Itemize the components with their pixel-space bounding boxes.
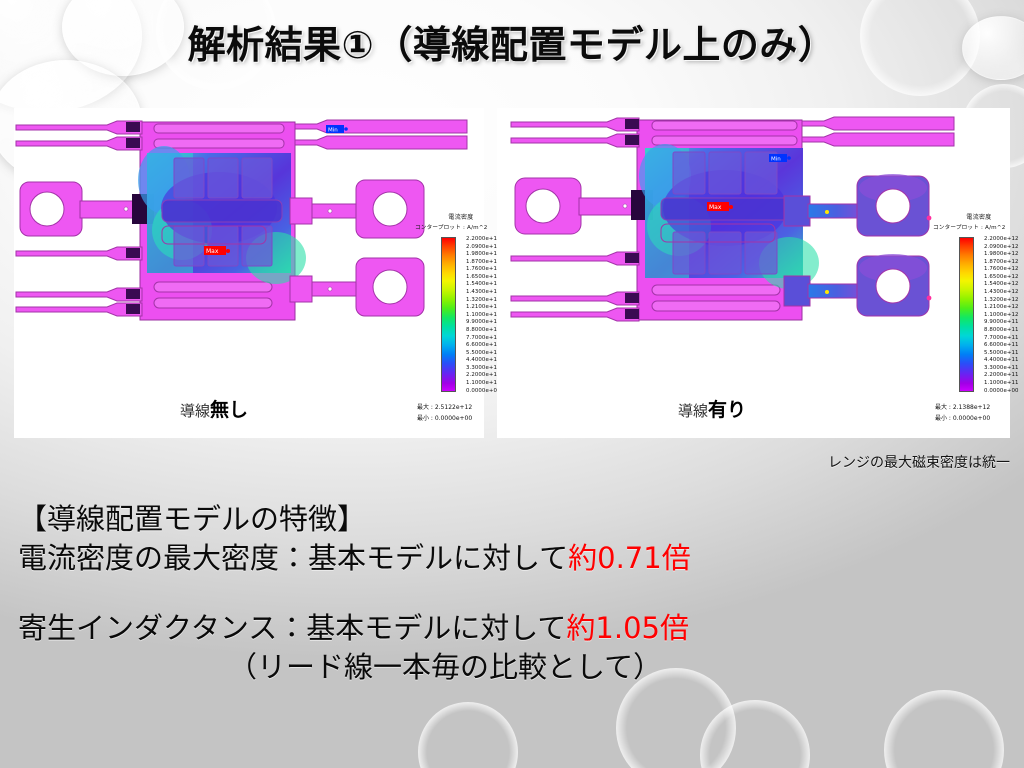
figure-panel-with-wire: Max Min 電流密度 コンタープロット : A/m^2 2.2000e+12… [497, 108, 1010, 438]
range-note: レンジの最大磁束密度は統一 [828, 452, 1010, 472]
caption-prefix: 導線 [678, 402, 708, 420]
colorbar-tick-values: 2.2000e+12 2.0900e+12 1.9800e+12 1.8700e… [466, 237, 501, 394]
colorbar-tick: 9.9000e+11 [466, 320, 501, 325]
colorbar-tick: 2.2000e+12 [984, 237, 1019, 242]
figure-caption-no-wire: 導線無し [14, 395, 414, 422]
body-spacer [18, 579, 1008, 609]
colorbar-tick: 1.8700e+12 [984, 260, 1019, 265]
colorbar-tick: 6.6000e+11 [984, 343, 1019, 348]
colorbar-tick: 4.4000e+11 [984, 358, 1019, 363]
colorbar-tick: 1.2100e+12 [466, 305, 501, 310]
line1-text: 電流密度の最大密度：基本モデルに対して [18, 541, 568, 575]
caption-suffix: 有り [708, 399, 746, 421]
colorbar-tick: 0.0000e+00 [984, 389, 1019, 394]
colorbar-tick: 1.4300e+12 [466, 290, 501, 295]
colorbar-tick: 0.0000e+00 [466, 389, 501, 394]
colorbar-tick: 8.8000e+11 [466, 328, 501, 333]
colorbar-tick: 7.7000e+11 [466, 336, 501, 341]
colorbar-tick: 1.5400e+12 [984, 282, 1019, 287]
colorbar-tick: 5.5000e+11 [984, 351, 1019, 356]
colorbar-tick: 1.3200e+12 [466, 298, 501, 303]
body-heading: 【導線配置モデルの特徴】 [18, 500, 1008, 539]
colorbar-tick: 4.4000e+11 [466, 358, 501, 363]
legend-minmax: 最大 : 2.5122e+12 最小 : 0.0000e+00 [417, 403, 501, 424]
svg-text:Min: Min [328, 128, 338, 134]
svg-text:Max: Max [709, 204, 722, 211]
legend-minmax: 最大 : 2.1388e+12 最小 : 0.0000e+00 [935, 403, 1019, 424]
colorbar-tick: 1.6500e+12 [466, 275, 501, 280]
line2-text: 寄生インダクタンス：基本モデルに対して [18, 611, 566, 645]
body-line-current-density: 電流密度の最大密度：基本モデルに対して約0.71倍 [18, 539, 1008, 578]
colorbar-tick: 1.8700e+12 [466, 260, 501, 265]
colorbar-tick: 1.5400e+12 [466, 282, 501, 287]
colorbar-tick: 1.6500e+12 [984, 275, 1019, 280]
colorbar-tick: 5.5000e+11 [466, 351, 501, 356]
colorbar-legend-with-wire: 電流密度 コンタープロット : A/m^2 2.2000e+12 2.0900e… [937, 212, 1019, 424]
legend-max-label: 最大 : 2.5122e+12 [417, 403, 501, 414]
colorbar-tick: 1.1000e+12 [984, 313, 1019, 318]
colorbar-tick: 3.3000e+11 [466, 366, 501, 371]
colorbar-tick: 1.1000e+11 [984, 381, 1019, 386]
figure-caption-with-wire: 導線有り [497, 395, 927, 422]
legend-max-label: 最大 : 2.1388e+12 [935, 403, 1019, 414]
colorbar-tick: 6.6000e+11 [466, 343, 501, 348]
colorbar-tick: 1.3200e+12 [984, 298, 1019, 303]
legend-subtitle: コンタープロット : A/m^2 [933, 223, 1019, 231]
colorbar-tick: 1.4300e+12 [984, 290, 1019, 295]
caption-suffix: 無し [210, 399, 248, 421]
colorbar-tick: 2.2000e+11 [984, 373, 1019, 378]
colorbar-tick: 3.3000e+11 [984, 366, 1019, 371]
legend-min-label: 最小 : 0.0000e+00 [935, 414, 1019, 425]
colorbar-legend-no-wire: 電流密度 コンタープロット : A/m^2 2.2000e+12 2.0900e… [419, 212, 501, 424]
figure-panel-no-wire: Max Min 電流密度 コンタープロット : A/m^2 2.2000e+12… [14, 108, 484, 438]
line1-ratio: 約0.71倍 [568, 541, 691, 575]
colorbar-gradient [959, 237, 974, 392]
colorbar-tick: 2.2000e+11 [466, 373, 501, 378]
line2-ratio: 約1.05倍 [566, 611, 689, 645]
svg-text:Min: Min [771, 157, 781, 163]
colorbar-tick-values: 2.2000e+12 2.0900e+12 1.9800e+12 1.8700e… [984, 237, 1019, 394]
colorbar-tick: 1.7600e+12 [984, 267, 1019, 272]
colorbar-tick: 1.9800e+12 [466, 252, 501, 257]
fem-svg-with-wire: Max Min [497, 108, 1010, 384]
page-title: 解析結果①（導線配置モデル上のみ） [0, 14, 1024, 69]
colorbar-gradient [441, 237, 456, 392]
svg-text:Max: Max [206, 248, 219, 255]
body-text-block: 【導線配置モデルの特徴】 電流密度の最大密度：基本モデルに対して約0.71倍 寄… [18, 500, 1008, 688]
colorbar-tick: 1.9800e+12 [984, 252, 1019, 257]
legend-subtitle: コンタープロット : A/m^2 [415, 223, 501, 231]
colorbar-tick: 1.7600e+12 [466, 267, 501, 272]
colorbar-tick: 1.1000e+12 [466, 313, 501, 318]
colorbar-tick: 2.2000e+12 [466, 237, 501, 242]
colorbar-tick: 7.7000e+11 [984, 336, 1019, 341]
colorbar-tick: 1.2100e+12 [984, 305, 1019, 310]
colorbar-tick: 1.1000e+11 [466, 381, 501, 386]
legend-title: 電流密度 [943, 212, 1015, 221]
caption-prefix: 導線 [180, 402, 210, 420]
colorbar-tick: 9.9000e+11 [984, 320, 1019, 325]
legend-title: 電流密度 [425, 212, 497, 221]
fem-plot-with-wire: Max Min [497, 108, 1010, 384]
fem-plot-no-wire: Max Min [14, 108, 484, 384]
colorbar-tick: 2.0900e+12 [984, 245, 1019, 250]
legend-min-label: 最小 : 0.0000e+00 [417, 414, 501, 425]
fem-svg-no-wire: Max Min [14, 108, 484, 384]
body-line-note: （リード線一本毎の比較として） [18, 648, 1008, 687]
body-line-inductance: 寄生インダクタンス：基本モデルに対して約1.05倍 [18, 609, 1008, 648]
slide-canvas: 解析結果①（導線配置モデル上のみ） [0, 0, 1024, 768]
colorbar-tick: 2.0900e+12 [466, 245, 501, 250]
colorbar-tick: 8.8000e+11 [984, 328, 1019, 333]
